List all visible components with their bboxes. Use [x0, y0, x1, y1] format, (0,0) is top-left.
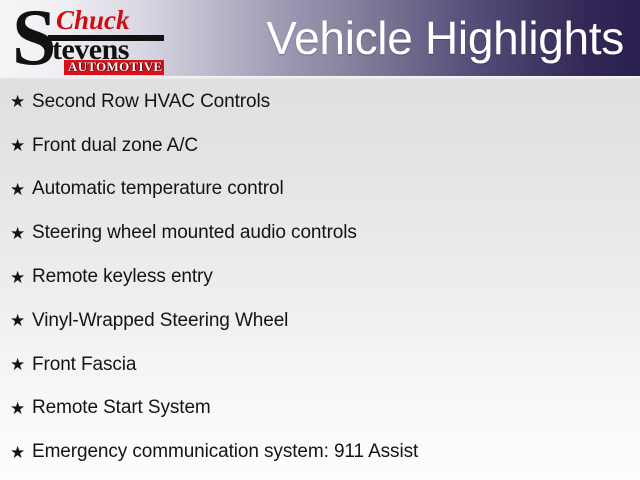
list-item: ★ Second Row HVAC Controls — [0, 80, 640, 124]
list-item-label: Emergency communication system: 911 Assi… — [32, 441, 418, 463]
star-icon: ★ — [10, 137, 32, 154]
page-title: Vehicle Highlights — [266, 8, 624, 68]
star-icon: ★ — [10, 269, 32, 286]
star-icon: ★ — [10, 400, 32, 417]
list-item-label: Remote keyless entry — [32, 266, 213, 288]
list-item: ★ Remote Start System — [0, 387, 640, 431]
list-item-label: Vinyl-Wrapped Steering Wheel — [32, 310, 288, 332]
list-item: ★ Vinyl-Wrapped Steering Wheel — [0, 299, 640, 343]
star-icon: ★ — [10, 225, 32, 242]
list-item-label: Automatic temperature control — [32, 178, 284, 200]
logo-name-chuck: Chuck — [56, 6, 130, 34]
header-banner: S Chuck tevens AUTOMOTIVE Vehicle Highli… — [0, 0, 640, 76]
list-item-label: Front Fascia — [32, 354, 136, 376]
star-icon: ★ — [10, 444, 32, 461]
star-icon: ★ — [10, 356, 32, 373]
dealer-logo[interactable]: S Chuck tevens AUTOMOTIVE — [12, 4, 164, 72]
star-icon: ★ — [10, 181, 32, 198]
star-icon: ★ — [10, 93, 32, 110]
list-item-label: Steering wheel mounted audio controls — [32, 222, 357, 244]
list-item: ★ Steering wheel mounted audio controls — [0, 211, 640, 255]
vehicle-highlights-slide: S Chuck tevens AUTOMOTIVE Vehicle Highli… — [0, 0, 640, 480]
list-item-label: Remote Start System — [32, 397, 211, 419]
list-item: ★ Automatic temperature control — [0, 168, 640, 212]
logo-initial-s: S — [12, 0, 57, 78]
list-item: ★ Front Fascia — [0, 343, 640, 387]
vehicle-highlights-list: ★ Second Row HVAC Controls ★ Front dual … — [0, 80, 640, 474]
list-item: ★ Emergency communication system: 911 As… — [0, 430, 640, 474]
list-item: ★ Front dual zone A/C — [0, 124, 640, 168]
list-item-label: Front dual zone A/C — [32, 135, 198, 157]
list-item: ★ Remote keyless entry — [0, 255, 640, 299]
list-item-label: Second Row HVAC Controls — [32, 91, 270, 113]
star-icon: ★ — [10, 312, 32, 329]
logo-tagline-text: AUTOMOTIVE — [68, 59, 163, 75]
header-separator — [0, 76, 640, 79]
